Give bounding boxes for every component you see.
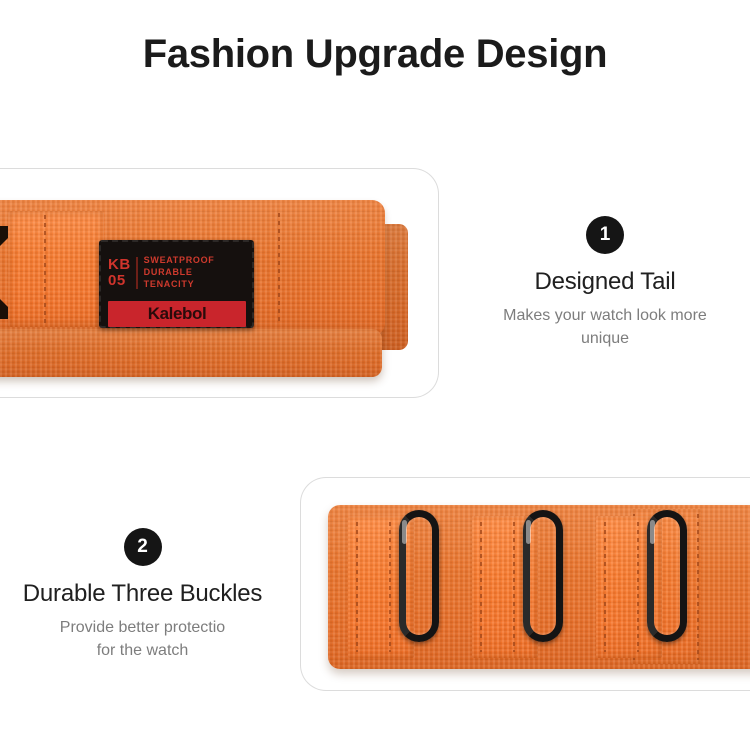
stitch-line-2a (480, 522, 482, 652)
label-code-line-1: KB (108, 257, 131, 273)
label-claim-sweatproof: SWEATPROOF (144, 255, 215, 267)
feature-description-1-line-2: unique (460, 328, 750, 351)
buckle-loop-3 (647, 510, 687, 642)
feature-title-1: Designed Tail (460, 268, 750, 296)
buckle-loop-1 (399, 510, 439, 642)
product-feature-page: Fashion Upgrade Design KB 05 SWEATPROOF … (0, 0, 750, 750)
brand-bar: Kalebol (108, 301, 246, 327)
label-upper-row: KB 05 SWEATPROOF DURABLE TENACITY (108, 247, 246, 299)
feature-title-2: Durable Three Buckles (0, 580, 285, 608)
feature-description-2-line-2: for the watch (0, 640, 285, 663)
feature-number-badge-2: 2 (124, 528, 162, 566)
label-claim-tenacity: TENACITY (144, 279, 215, 291)
product-photo-card-buckles (300, 477, 750, 691)
brand-label-patch: KB 05 SWEATPROOF DURABLE TENACITY Kalebo… (99, 240, 254, 328)
label-claim-durable: DURABLE (144, 267, 215, 279)
stitch-line-1a (356, 522, 358, 652)
feature-block-1: 1 Designed Tail Makes your watch look mo… (460, 216, 750, 350)
patch-stitch-right (697, 514, 699, 660)
stitch-line-1b (389, 522, 391, 652)
feature-number-badge-1: 1 (586, 216, 624, 254)
buckle-loop-2 (523, 510, 563, 642)
stitch-line-right (278, 213, 280, 325)
brand-name: Kalebol (148, 304, 207, 324)
stitch-line-2b (513, 522, 515, 652)
feature-description-1: Makes your watch look more unique (460, 305, 750, 350)
feature-block-2: 2 Durable Three Buckles Provide better p… (0, 528, 285, 662)
stitch-line-3b (637, 522, 639, 652)
strap-keeper-band (8, 211, 104, 327)
page-title: Fashion Upgrade Design (0, 32, 750, 77)
feature-description-2-line-1: Provide better protectio (0, 617, 285, 640)
label-product-code: KB 05 (108, 257, 138, 289)
label-claims: SWEATPROOF DURABLE TENACITY (138, 255, 215, 291)
feature-description-2: Provide better protectio for the watch (0, 617, 285, 662)
stitch-line-left (44, 215, 46, 325)
feature-description-1-line-1: Makes your watch look more (460, 305, 750, 328)
strap-bottom-lip (0, 329, 382, 377)
label-code-line-2: 05 (108, 273, 131, 289)
stitch-line-3a (604, 522, 606, 652)
